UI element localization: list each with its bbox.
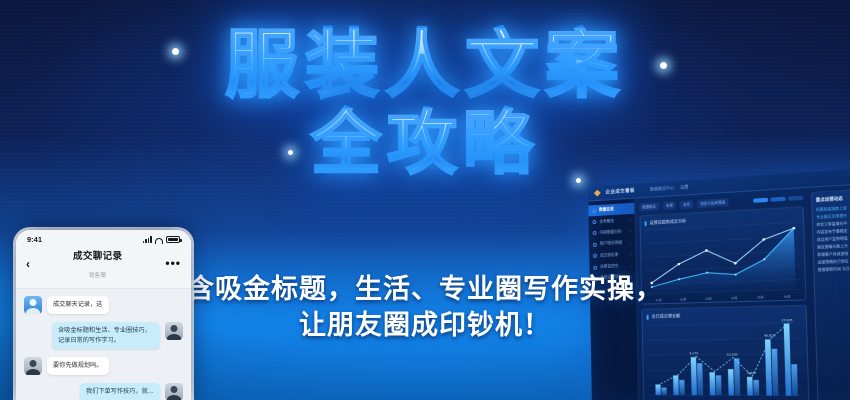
dot-icon: [592, 209, 596, 213]
avatar: [165, 322, 183, 340]
diamond-logo-icon: [594, 189, 601, 196]
sparkle-icon: [576, 178, 581, 183]
signal-bars-icon: [143, 236, 152, 243]
status-time: 9:41: [27, 235, 42, 244]
wifi-icon: [155, 238, 163, 244]
title-line2: 全攻略: [0, 108, 850, 178]
tab-settings[interactable]: 设置: [680, 184, 688, 191]
chevron-right-icon: ›: [630, 241, 631, 245]
chat-message: 要你先做规划吗。: [24, 357, 183, 375]
phone-nav-title-group: 成交聊记录 销售聊: [30, 246, 165, 282]
chat-bubble: 成交聊天记录，这: [47, 296, 109, 314]
sidebar-item-label: 数据总览: [599, 207, 614, 213]
chat-thread: 成交聊天记录，这 含吸金标题和生活、专业圈技巧，记录日常的写作学习。 要你先做规…: [16, 289, 191, 400]
filter-chip-overview[interactable]: 数据概览: [639, 202, 659, 211]
filter-chip-custom[interactable]: 自定义区间筛选: [697, 198, 728, 208]
phone-status-bar: 9:41: [16, 230, 191, 245]
avatar: [24, 296, 42, 314]
dashboard-brand: 企业成交看板: [605, 188, 635, 196]
more-horizontal-icon[interactable]: •••: [165, 260, 181, 267]
chevron-right-icon: ›: [630, 264, 631, 268]
phone-nav-bar: ‹ 成交聊记录 销售聊 •••: [16, 245, 191, 289]
chat-message: 成交聊天记录，这: [24, 296, 183, 314]
sparkle-icon: [172, 48, 179, 55]
chevron-right-icon: ›: [630, 252, 631, 256]
title-line1: 服装人文案: [0, 28, 850, 102]
filter-chip-week[interactable]: 本周: [663, 201, 676, 210]
dot-icon: [593, 254, 597, 258]
dot-icon: [593, 265, 597, 269]
sparkle-icon: [660, 62, 667, 69]
title-block: 服装人文案 全攻略: [0, 28, 850, 178]
svg-text:4,179: 4,179: [689, 351, 698, 355]
chat-bubble: 要你先做规划吗。: [47, 357, 109, 375]
filter-chip-month[interactable]: 本月: [680, 200, 693, 209]
sparkle-icon: [288, 150, 293, 155]
battery-icon: [166, 236, 180, 243]
status-icons: [143, 236, 180, 243]
dot-icon: [593, 231, 597, 235]
dot-icon: [592, 220, 596, 224]
sidebar-item-label: 成交转化率: [600, 253, 619, 259]
phone-nav-subtitle: 销售聊: [89, 273, 106, 279]
chat-message: 含吸金标题和生活、专业圈技巧，记录日常的写作学习。: [24, 322, 183, 349]
sidebar-item-label: 业务概览: [599, 219, 614, 225]
promo-banner: 服装人文案 全攻略 服装人文案 全攻略 含吸金标题，生活、专业圈写作实操， 让朋…: [0, 0, 850, 400]
dot-icon: [593, 243, 597, 247]
chat-bubble: 含吸金标题和生活、专业圈技巧，记录日常的写作学习。: [52, 322, 160, 349]
phone-mockup: 9:41 ‹ 成交聊记录 销售聊 ••• 成交聊天记录，这 含吸金标题和生活、专: [16, 230, 191, 400]
chevron-right-icon: ›: [630, 230, 631, 234]
chevron-right-icon: ›: [629, 218, 630, 222]
sidebar-item-label: 用户增长明细: [600, 241, 622, 247]
highlights-title: 重点运营动态: [816, 194, 850, 203]
svg-text:6,820: 6,820: [747, 371, 756, 375]
phone-nav-title: 成交聊记录: [73, 251, 123, 262]
sidebar-item-label: 运营监控台: [600, 264, 619, 270]
avatar: [165, 383, 183, 400]
svg-text:12,230: 12,230: [727, 352, 738, 356]
tab-overview[interactable]: 数据概览中心: [650, 185, 674, 193]
sidebar-item-label: 内容数据分析: [599, 230, 621, 236]
chat-message: 我们下单写作技巧，就…: [24, 383, 183, 400]
dashboard-tabs: 数据概览中心 设置: [650, 184, 689, 193]
avatar: [24, 357, 42, 375]
chat-bubble: 我们下单写作技巧，就…: [80, 383, 160, 400]
progress-bars: [753, 195, 803, 202]
